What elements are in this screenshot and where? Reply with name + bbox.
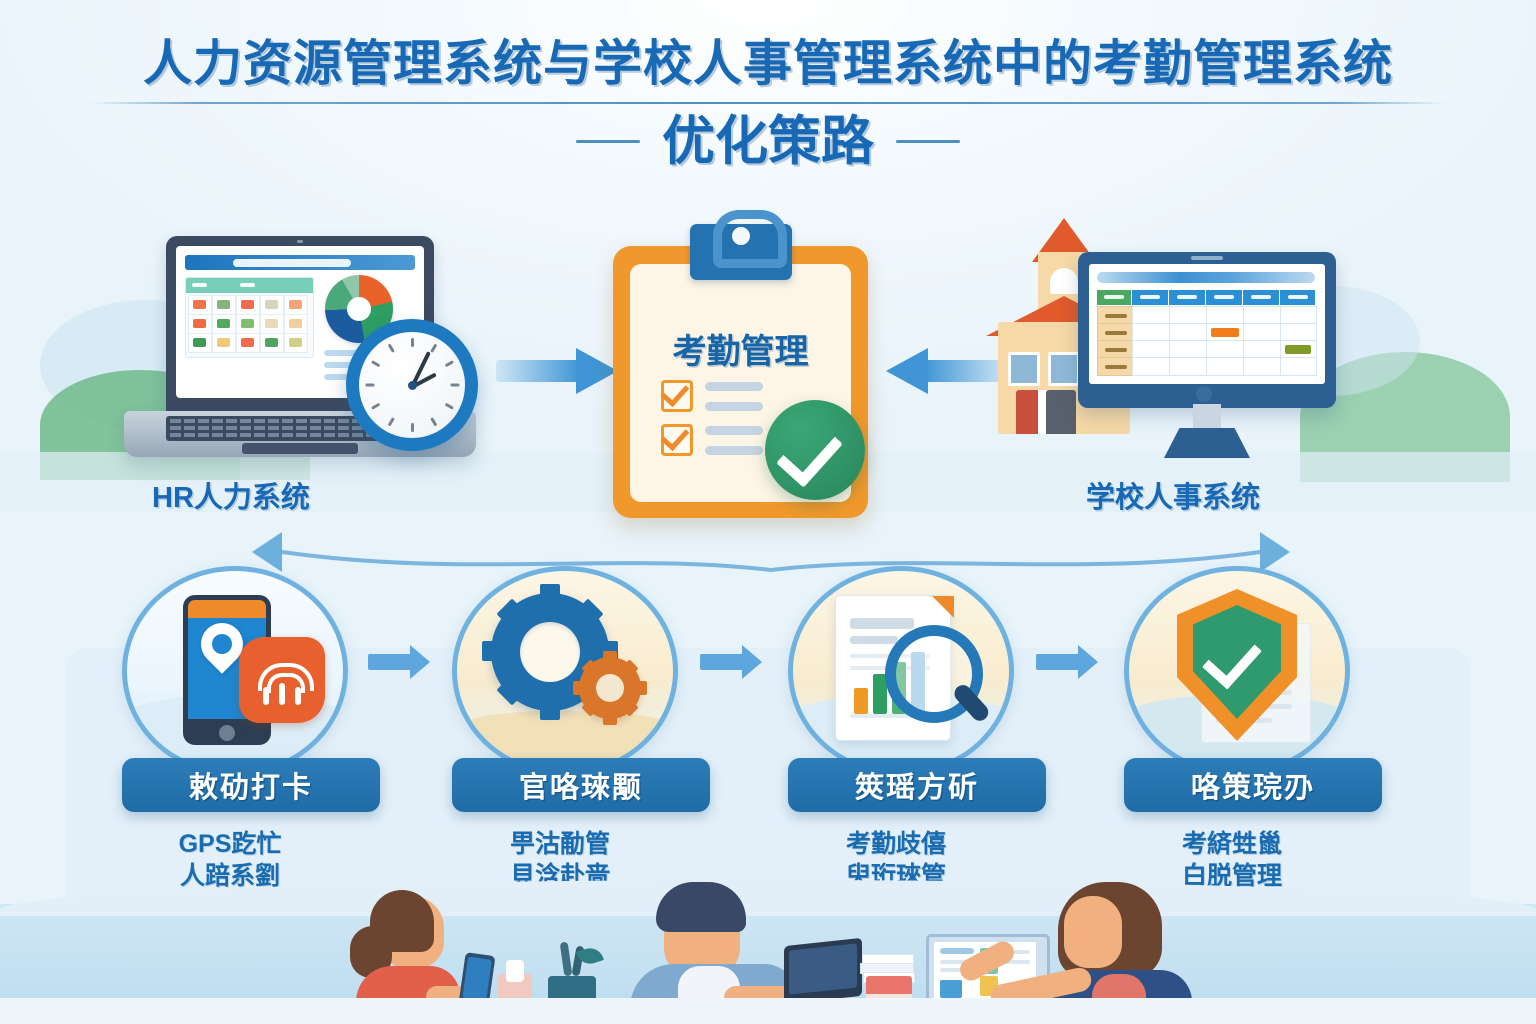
app-topbar [185,255,415,270]
label-school-system: 学校人事系统 [1086,474,1260,516]
calendar-cell [212,314,236,334]
step-1-desc-line1: GPS趷忙 [122,828,338,860]
laptop-camera [297,240,303,243]
subtitle-row: 优化策路 [0,115,1536,168]
title-divider [90,102,1446,104]
hair [656,882,746,932]
step-4-badge[interactable]: 咯策琓刅 [1124,758,1382,812]
arrow-right-icon [496,348,618,394]
subtitle-dash-right [896,140,960,143]
desk-laptop-icon [784,938,862,1004]
wall-clock-icon [346,319,478,451]
step-card-2[interactable]: 官咯琜颙 甼沽勈管 貝浛赴啬 [452,566,668,892]
title-block: 人力资源管理系统与学校人事管理系统中的考勤管理系统 优化策路 [0,38,1536,168]
table-header-cell [1280,290,1315,305]
step-4-circle [1124,566,1350,776]
monitor-neck [1193,404,1221,430]
calendar-cell [284,295,308,315]
table-header-cell [1169,290,1205,305]
page-title: 人力资源管理系统与学校人事管理系统中的考勤管理系统 [0,38,1536,91]
calendar-cell [212,295,236,315]
step-4-desc-line1: 考緕甡巤 [1124,828,1340,860]
school-door [1046,390,1076,434]
calendar-cell [188,314,212,334]
step-3-badge-label: 筴瑶方斫 [855,764,979,806]
calendar-cell [188,295,212,315]
step-2-desc-line1: 甼沽勈管 [452,828,668,860]
step-arrow-1 [368,645,430,679]
calendar-cell [260,295,284,315]
monitor-screen [1089,264,1325,384]
step-arrow-2 [700,645,762,679]
step-3-circle [788,566,1014,776]
clipboard-line [705,402,763,411]
clipboard-line [705,382,763,391]
step-1-badge[interactable]: 敕劯打卡 [122,758,380,812]
office-people-illustration [0,880,1536,1024]
monitor-body [1078,252,1336,408]
step-card-3[interactable]: 筴瑶方斫 考勤歧僖 臾珩琜管 [788,566,1004,892]
bell-window [1050,268,1078,294]
infographic-canvas: 人力资源管理系统与学校人事管理系统中的考勤管理系统 优化策路 [0,0,1536,1024]
calendar-header-cell [192,283,207,287]
clipboard-line [705,426,763,435]
table-header-cell [1206,290,1242,305]
step-arrow-3 [1036,645,1098,679]
desktop-monitor-icon [1078,252,1336,467]
calendar-grid [185,277,314,358]
calendar-cell [260,333,284,353]
checkbox-checked [661,380,693,412]
laptop-calendar-icon [118,236,478,481]
desk-surface [0,998,1536,1024]
table-cell [1169,357,1207,376]
calendar-cell [188,333,212,353]
school-window [1048,352,1080,386]
check-mark [776,419,843,488]
table-header-cell [1097,290,1131,305]
topbar-field [233,259,351,267]
subtitle-dash-left [576,140,640,143]
step-3-desc-line1: 考勤歧僖 [788,828,1004,860]
step-2-circle [452,566,678,776]
clipboard-title: 考勤管理 [613,324,868,373]
page-subtitle: 优化策路 [662,115,874,168]
green-check-badge-icon [765,400,865,500]
monitor-base [1164,428,1250,458]
step-1-badge-label: 敕劯打卡 [189,764,313,806]
step-3-badge[interactable]: 筴瑶方斫 [788,758,1046,812]
pie-chart-hole [347,297,371,321]
table-cell [1280,357,1317,376]
calendar-cell [236,333,260,353]
calendar-cell [284,314,308,334]
clipboard-ring [713,210,787,268]
label-hr-system: HR人力系统 [152,474,310,516]
step-card-4[interactable]: 咯策琓刅 考緕甡巤 白脱管理 [1124,566,1340,892]
table-header-cell [1132,290,1168,305]
table-header-cell [1243,290,1279,305]
clock-face [359,332,465,438]
table-cell [1206,357,1244,376]
step-4-badge-label: 咯策琓刅 [1191,764,1315,806]
clipboard-icon: 考勤管理 [613,224,883,520]
app-toolbar [1097,272,1315,283]
fingerprint-icon [239,637,325,723]
table-cell [1243,357,1281,376]
calendar-cell [236,295,260,315]
calendar-header-cell [240,283,255,287]
school-window [1008,352,1040,386]
calendar-cell [284,333,308,353]
step-2-badge[interactable]: 官咯琜颙 [452,758,710,812]
step-1-circle [122,566,348,776]
calendar-cell [260,314,284,334]
checkbox-checked [661,424,693,456]
calendar-cell [212,333,236,353]
laptop-trackpad [242,443,358,454]
clipboard-hole [732,227,750,245]
step-card-1[interactable]: 敕劯打卡 GPS趷忙 人踣系劉 [122,566,338,892]
table-row-label [1097,357,1133,376]
monitor-hinge [1196,386,1212,402]
calendar-cell [236,314,260,334]
table-cell [1132,357,1170,376]
clipboard-line [705,446,763,455]
clock-center-pin [408,381,417,390]
monitor-notch [1191,256,1223,260]
calendar-header [186,278,313,293]
step-2-badge-label: 官咯琜颙 [519,764,643,806]
attendance-table [1097,290,1315,376]
small-gear-icon [579,657,641,719]
face-front [1064,896,1122,968]
